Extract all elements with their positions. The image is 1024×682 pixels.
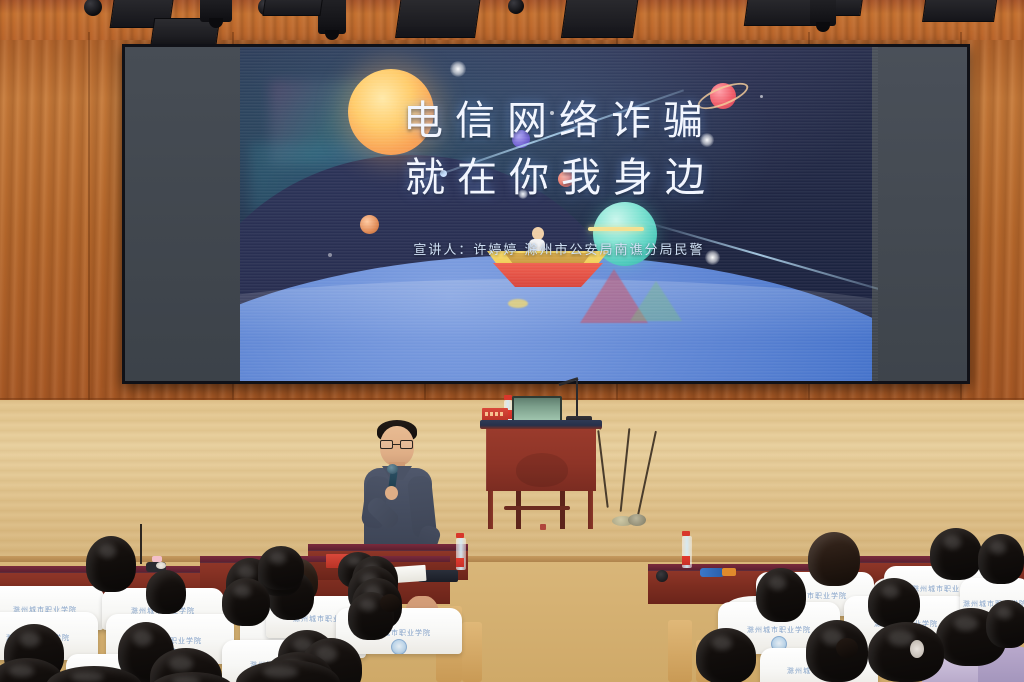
- wooden-chair-back[interactable]: [668, 620, 692, 682]
- slide-title-line-2: 就在你我身边: [240, 150, 878, 207]
- podium-desk-leg: [588, 491, 593, 529]
- loudspeaker: [922, 0, 998, 22]
- loudspeaker: [561, 0, 639, 38]
- wall-panel-seam: [88, 32, 90, 400]
- hair-clip: [910, 640, 924, 658]
- boat-hull-lower: [493, 263, 603, 287]
- loudspeaker: [744, 0, 818, 26]
- attendee-head: [978, 534, 1024, 584]
- podium-desk-leg: [516, 491, 521, 529]
- attendee-head: [756, 568, 806, 622]
- attendee-head: [146, 570, 186, 614]
- laptop-screen[interactable]: [512, 396, 562, 422]
- floor-adapter[interactable]: [628, 514, 646, 526]
- attendee-head: [222, 578, 270, 626]
- podium-desk-leg: [488, 491, 493, 529]
- microphone-stand[interactable]: [140, 524, 142, 564]
- panel-light: [395, 0, 481, 38]
- chair-cover-text: 滁州城市职业学院: [747, 625, 811, 635]
- attendee-head: [808, 532, 860, 586]
- desk-object: [656, 570, 668, 582]
- podium-desk-front: [486, 429, 596, 491]
- podium-desk-top: [480, 420, 602, 429]
- orange-planet: [360, 215, 379, 234]
- bottle-cap: [682, 531, 690, 536]
- microphone-head: [387, 464, 398, 474]
- bottle-cap: [456, 533, 464, 538]
- water-bottle[interactable]: [456, 538, 466, 570]
- stage-spotlight: [810, 0, 836, 26]
- hair-bun: [836, 638, 858, 658]
- hair-bun: [380, 594, 400, 612]
- attendee-head: [86, 536, 136, 592]
- attendee-head: [986, 600, 1024, 648]
- hair-clip: [156, 562, 166, 569]
- podium-desk-leg: [560, 491, 565, 529]
- slide-title-underline: [588, 227, 644, 231]
- attendee-head: [868, 578, 920, 628]
- slide-pyramid-shape: [630, 281, 682, 321]
- bottle-cap: [504, 395, 512, 400]
- star-glow: [450, 61, 466, 77]
- boat-reflection: [508, 299, 528, 308]
- podium-desk-rail: [504, 506, 570, 510]
- bottle-label: [456, 558, 464, 567]
- screen-dark-right-bezel: [872, 47, 967, 381]
- stage-spotlight: [318, 0, 346, 34]
- wooden-chair-back[interactable]: [462, 622, 482, 682]
- attendee-head: [696, 628, 756, 682]
- pencil-case[interactable]: [700, 568, 724, 577]
- attendee-head: [930, 528, 982, 580]
- school-emblem-icon: [391, 639, 407, 654]
- attendee-head: [258, 546, 304, 590]
- speaker-left-hand: [385, 486, 398, 500]
- desk-object: [722, 568, 736, 576]
- podium-desk[interactable]: [480, 420, 602, 530]
- stage-spotlight: [200, 0, 232, 22]
- slide-title: 电信网络诈骗 就在你我身边: [240, 93, 878, 207]
- auditorium-scene: 电信网络诈骗 就在你我身边 宣讲人：许婷婷 滁州市公安局南谯分局民警: [0, 0, 1024, 682]
- presentation-slide: 电信网络诈骗 就在你我身边 宣讲人：许婷婷 滁州市公安局南谯分局民警: [240, 47, 878, 384]
- audience-table-top: [308, 544, 468, 550]
- attendee-head: [868, 622, 944, 682]
- slide-subtitle: 宣讲人：许婷婷 滁州市公安局南谯分局民警: [240, 239, 878, 258]
- screen-dark-left-bezel: [125, 47, 240, 381]
- projection-screen[interactable]: 电信网络诈骗 就在你我身边 宣讲人：许婷婷 滁州市公安局南谯分局民警: [122, 44, 970, 384]
- glasses-icon: [379, 440, 415, 449]
- water-bottle[interactable]: [682, 536, 692, 568]
- slide-title-line-1: 电信网络诈骗: [403, 98, 715, 144]
- bottle-label: [682, 556, 690, 565]
- panel-light: [262, 0, 323, 16]
